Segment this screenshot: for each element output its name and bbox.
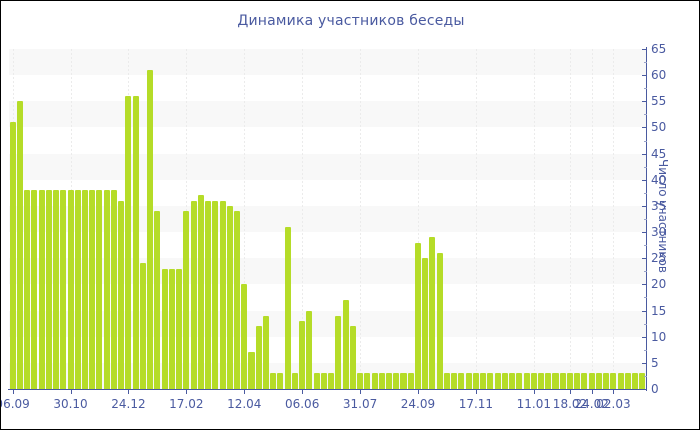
- bar[interactable]: [589, 373, 595, 389]
- bar[interactable]: [343, 300, 349, 389]
- bar[interactable]: [162, 269, 168, 389]
- bar[interactable]: [466, 373, 472, 389]
- bar[interactable]: [458, 373, 464, 389]
- bar[interactable]: [31, 190, 37, 389]
- x-axis-tick: [128, 390, 129, 394]
- bar[interactable]: [610, 373, 616, 389]
- bar[interactable]: [596, 373, 602, 389]
- bar[interactable]: [292, 373, 298, 389]
- y-axis-tick: [642, 232, 647, 233]
- bar[interactable]: [560, 373, 566, 389]
- chart-window: Динамика участников беседы 0510152025303…: [0, 0, 700, 430]
- bar[interactable]: [618, 373, 624, 389]
- bar[interactable]: [516, 373, 522, 389]
- bar[interactable]: [191, 201, 197, 389]
- bar[interactable]: [75, 190, 81, 389]
- x-axis-tick: [534, 390, 535, 394]
- bar[interactable]: [321, 373, 327, 389]
- bar[interactable]: [415, 243, 421, 389]
- bar[interactable]: [538, 373, 544, 389]
- y-axis-minor-tick: [644, 141, 647, 142]
- y-axis-tick: [642, 101, 647, 102]
- bar-series: [9, 49, 646, 389]
- chart-title: Динамика участников беседы: [1, 13, 700, 29]
- plot-area: [9, 49, 646, 389]
- y-axis-tick: [642, 75, 647, 76]
- x-axis-tick: [613, 390, 614, 394]
- bar[interactable]: [422, 258, 428, 389]
- x-axis-label: 06.06: [285, 397, 319, 411]
- bar[interactable]: [437, 253, 443, 389]
- bar[interactable]: [169, 269, 175, 389]
- bar[interactable]: [263, 316, 269, 389]
- bar[interactable]: [277, 373, 283, 389]
- bar[interactable]: [444, 373, 450, 389]
- bar[interactable]: [96, 190, 102, 389]
- y-axis-label: 15: [651, 305, 666, 317]
- bar[interactable]: [183, 211, 189, 389]
- bar[interactable]: [17, 101, 23, 389]
- bar[interactable]: [480, 373, 486, 389]
- bar[interactable]: [581, 373, 587, 389]
- bar[interactable]: [386, 373, 392, 389]
- y-axis-label: 20: [651, 278, 666, 290]
- x-axis-tick: [476, 390, 477, 394]
- bar[interactable]: [408, 373, 414, 389]
- bar[interactable]: [176, 269, 182, 389]
- x-axis-label: 24.09: [401, 397, 435, 411]
- bar[interactable]: [314, 373, 320, 389]
- x-axis-label: 24.12: [111, 397, 145, 411]
- x-axis-tick: [13, 390, 14, 394]
- bar[interactable]: [509, 373, 515, 389]
- x-axis-label: 12.04: [227, 397, 261, 411]
- x-axis-tick: [186, 390, 187, 394]
- bar[interactable]: [53, 190, 59, 389]
- bar[interactable]: [545, 373, 551, 389]
- y-axis-tick: [642, 389, 647, 390]
- y-axis-minor-tick: [644, 350, 647, 351]
- y-axis-label: 10: [651, 331, 666, 343]
- bar[interactable]: [125, 96, 131, 389]
- bar[interactable]: [603, 373, 609, 389]
- bar[interactable]: [270, 373, 276, 389]
- bar[interactable]: [140, 263, 146, 389]
- y-axis-tick: [642, 311, 647, 312]
- y-axis-label: 5: [651, 357, 659, 369]
- y-axis-minor-tick: [644, 219, 647, 220]
- bar[interactable]: [198, 195, 204, 389]
- y-axis-tick: [642, 258, 647, 259]
- x-axis-label: 17.02: [169, 397, 203, 411]
- bar[interactable]: [451, 373, 457, 389]
- bar[interactable]: [234, 211, 240, 389]
- y-axis-title: Число участников: [656, 159, 670, 273]
- y-axis-minor-tick: [644, 376, 647, 377]
- x-axis-tick: [71, 390, 72, 394]
- bar[interactable]: [625, 373, 631, 389]
- y-axis-tick: [642, 363, 647, 364]
- y-axis-tick: [642, 49, 647, 50]
- y-axis-minor-tick: [644, 324, 647, 325]
- y-axis-tick: [642, 284, 647, 285]
- y-axis-tick: [642, 154, 647, 155]
- bar[interactable]: [495, 373, 501, 389]
- bar[interactable]: [68, 190, 74, 389]
- x-axis-label: 30.10: [53, 397, 87, 411]
- bar[interactable]: [502, 373, 508, 389]
- x-axis-tick: [418, 390, 419, 394]
- x-axis-tick: [570, 390, 571, 394]
- bar[interactable]: [212, 201, 218, 389]
- x-axis-tick: [302, 390, 303, 394]
- bar[interactable]: [154, 211, 160, 389]
- bar[interactable]: [111, 190, 117, 389]
- bar[interactable]: [372, 373, 378, 389]
- bar[interactable]: [350, 326, 356, 389]
- bar[interactable]: [241, 284, 247, 389]
- bar[interactable]: [60, 190, 66, 389]
- bar[interactable]: [400, 373, 406, 389]
- bar[interactable]: [256, 326, 262, 389]
- bar[interactable]: [473, 373, 479, 389]
- bar[interactable]: [632, 373, 638, 389]
- y-axis-minor-tick: [644, 88, 647, 89]
- bar[interactable]: [46, 190, 52, 389]
- bar[interactable]: [524, 373, 530, 389]
- bar[interactable]: [39, 190, 45, 389]
- bar[interactable]: [89, 190, 95, 389]
- x-axis-line: [8, 389, 647, 390]
- bar[interactable]: [285, 227, 291, 389]
- bar[interactable]: [487, 373, 493, 389]
- bar[interactable]: [220, 201, 226, 389]
- bar[interactable]: [306, 311, 312, 389]
- bar[interactable]: [205, 201, 211, 389]
- y-axis-tick: [642, 337, 647, 338]
- bar[interactable]: [82, 190, 88, 389]
- bar[interactable]: [393, 373, 399, 389]
- bar[interactable]: [248, 352, 254, 389]
- y-axis-minor-tick: [644, 297, 647, 298]
- x-axis-tick: [360, 390, 361, 394]
- bar[interactable]: [10, 122, 16, 389]
- bar[interactable]: [328, 373, 334, 389]
- x-axis-label: 17.11: [459, 397, 493, 411]
- x-axis-label: 31.07: [343, 397, 377, 411]
- bar[interactable]: [429, 237, 435, 389]
- y-axis-minor-tick: [644, 62, 647, 63]
- y-axis-label: 60: [651, 69, 666, 81]
- y-axis-label: 50: [651, 121, 666, 133]
- bar[interactable]: [24, 190, 30, 389]
- y-axis-tick: [642, 180, 647, 181]
- x-axis-label: 02.03: [596, 397, 630, 411]
- bar[interactable]: [379, 373, 385, 389]
- y-axis-label: 0: [651, 383, 659, 395]
- bar[interactable]: [133, 96, 139, 389]
- bar[interactable]: [574, 373, 580, 389]
- bar[interactable]: [118, 201, 124, 389]
- bar[interactable]: [335, 316, 341, 389]
- y-axis-minor-tick: [644, 114, 647, 115]
- y-axis-label: 65: [651, 43, 666, 55]
- y-axis-minor-tick: [644, 245, 647, 246]
- y-axis-minor-tick: [644, 271, 647, 272]
- bar[interactable]: [364, 373, 370, 389]
- y-axis-label: 55: [651, 95, 666, 107]
- x-axis-label: 11.01: [517, 397, 551, 411]
- y-axis-label: 45: [651, 148, 666, 160]
- x-axis-tick: [244, 390, 245, 394]
- bar[interactable]: [104, 190, 110, 389]
- y-axis-tick: [642, 127, 647, 128]
- bar[interactable]: [299, 321, 305, 389]
- bar[interactable]: [227, 206, 233, 389]
- bar[interactable]: [531, 373, 537, 389]
- y-axis-tick: [642, 206, 647, 207]
- x-axis-label: 06.09: [0, 397, 30, 411]
- y-axis-minor-tick: [644, 167, 647, 168]
- bar[interactable]: [567, 373, 573, 389]
- bar[interactable]: [552, 373, 558, 389]
- bar[interactable]: [357, 373, 363, 389]
- bar[interactable]: [147, 70, 153, 389]
- y-axis-minor-tick: [644, 193, 647, 194]
- x-axis-tick: [592, 390, 593, 394]
